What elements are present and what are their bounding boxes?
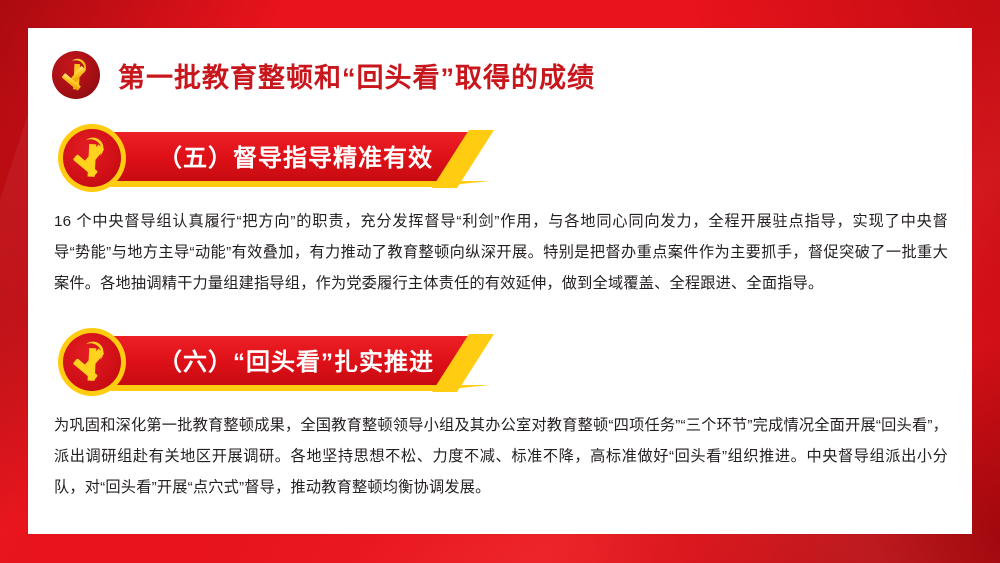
section-banner-5: （五）督导指导精准有效 xyxy=(46,124,972,196)
section-5: （五）督导指导精准有效 16 个中央督导组认真履行“把方向”的职责，充分发挥督导… xyxy=(28,124,972,196)
section-body-5: 16 个中央督导组认真履行“把方向”的职责，充分发挥督导“利剑”作用，与各地同心… xyxy=(54,206,948,299)
party-emblem-icon xyxy=(58,328,126,396)
section-banner-label-6: （六）“回头看”扎实推进 xyxy=(158,336,434,390)
slide: 第一批教育整顿和“回头看”取得的成绩 xyxy=(0,0,1000,563)
section-banner-6: （六）“回头看”扎实推进 xyxy=(46,328,972,400)
section-body-6: 为巩固和深化第一批教育整顿成果，全国教育整顿领导小组及其办公室对教育整顿“四项任… xyxy=(54,410,948,503)
section-banner-label-5: （五）督导指导精准有效 xyxy=(158,132,433,186)
content-card: 第一批教育整顿和“回头看”取得的成绩 xyxy=(28,28,972,534)
party-emblem-icon xyxy=(58,124,126,192)
party-emblem-icon xyxy=(52,51,100,99)
slide-title-row: 第一批教育整顿和“回头看”取得的成绩 xyxy=(52,46,595,104)
page-title: 第一批教育整顿和“回头看”取得的成绩 xyxy=(118,56,595,95)
section-6: （六）“回头看”扎实推进 为巩固和深化第一批教育整顿成果，全国教育整顿领导小组及… xyxy=(28,328,972,400)
